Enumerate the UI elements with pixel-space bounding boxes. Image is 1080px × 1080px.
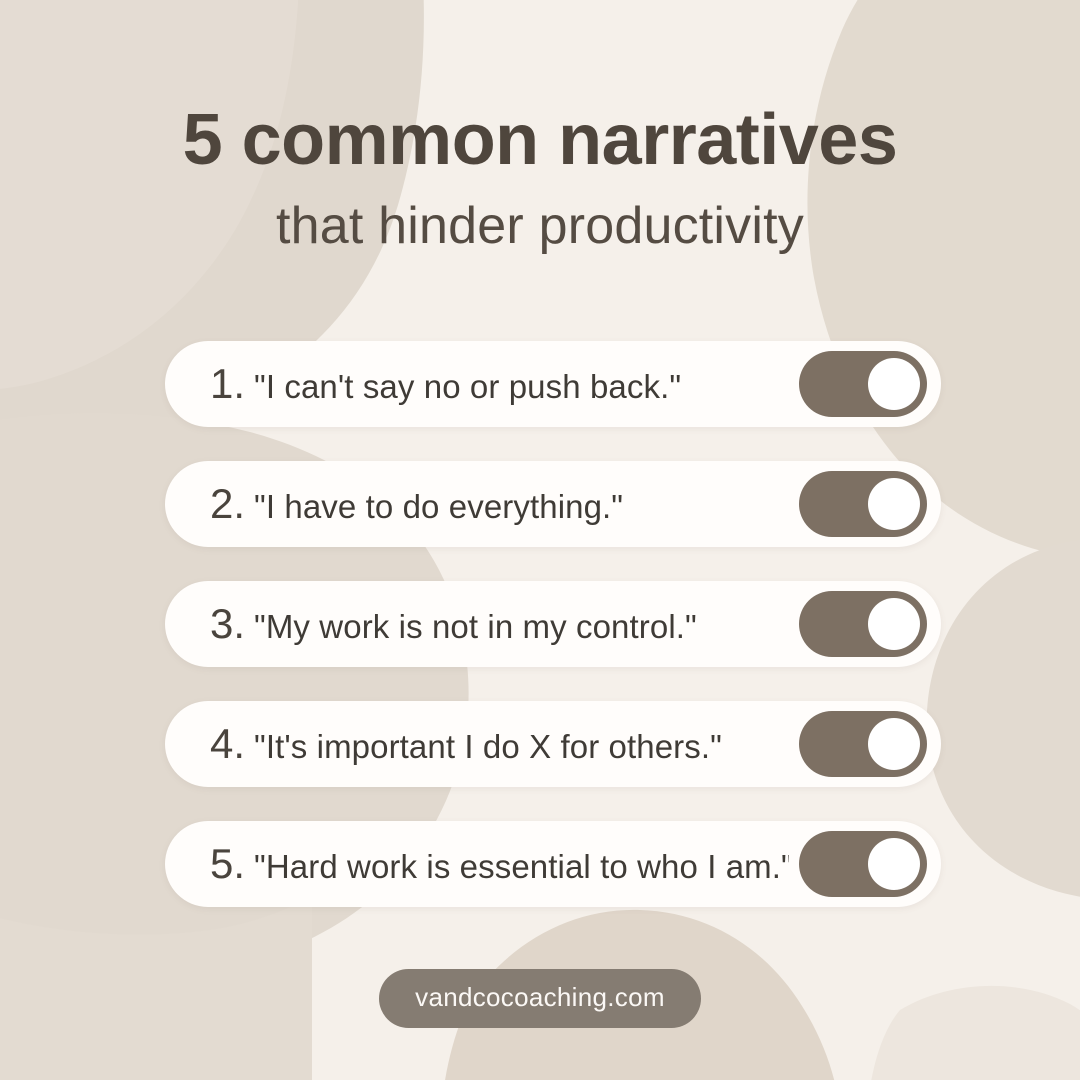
list-item[interactable]: 3. "My work is not in my control." <box>165 581 941 667</box>
heading-block: 5 common narratives that hinder producti… <box>0 104 1080 252</box>
toggle-knob-icon <box>868 478 920 530</box>
list-item[interactable]: 4. "It's important I do X for others." <box>165 701 941 787</box>
list-item-quote: "My work is not in my control." <box>254 610 697 643</box>
poster-content: 5 common narratives that hinder producti… <box>0 0 1080 1080</box>
list-item-number: 3. <box>210 603 245 645</box>
list-item-quote: "I have to do everything." <box>254 490 623 523</box>
list-item-quote: "Hard work is essential to who I am." <box>254 850 789 883</box>
list-item[interactable]: 2. "I have to do everything." <box>165 461 941 547</box>
list-item-text: 1. "I can't say no or push back." <box>210 363 789 405</box>
toggle-knob-icon <box>868 598 920 650</box>
toggle-switch[interactable] <box>799 711 927 777</box>
toggle-switch[interactable] <box>799 351 927 417</box>
list-item-number: 4. <box>210 723 245 765</box>
toggle-knob-icon <box>868 718 920 770</box>
list-item-quote: "I can't say no or push back." <box>254 370 681 403</box>
poster-canvas: 5 common narratives that hinder producti… <box>0 0 1080 1080</box>
list-item[interactable]: 5. "Hard work is essential to who I am." <box>165 821 941 907</box>
toggle-switch[interactable] <box>799 831 927 897</box>
list-item[interactable]: 1. "I can't say no or push back." <box>165 341 941 427</box>
toggle-knob-icon <box>868 358 920 410</box>
toggle-switch[interactable] <box>799 591 927 657</box>
list-item-number: 2. <box>210 483 245 525</box>
list-item-number: 1. <box>210 363 245 405</box>
page-title: 5 common narratives <box>0 104 1080 176</box>
list-item-number: 5. <box>210 843 245 885</box>
list-item-text: 2. "I have to do everything." <box>210 483 789 525</box>
list-item-text: 5. "Hard work is essential to who I am." <box>210 843 789 885</box>
website-badge[interactable]: vandcocoaching.com <box>379 969 701 1028</box>
toggle-knob-icon <box>868 838 920 890</box>
narratives-list: 1. "I can't say no or push back." 2. "I … <box>165 341 941 907</box>
list-item-text: 3. "My work is not in my control." <box>210 603 789 645</box>
page-subtitle: that hinder productivity <box>0 200 1080 252</box>
footer: vandcocoaching.com <box>0 969 1080 1028</box>
toggle-switch[interactable] <box>799 471 927 537</box>
list-item-quote: "It's important I do X for others." <box>254 730 722 763</box>
list-item-text: 4. "It's important I do X for others." <box>210 723 789 765</box>
